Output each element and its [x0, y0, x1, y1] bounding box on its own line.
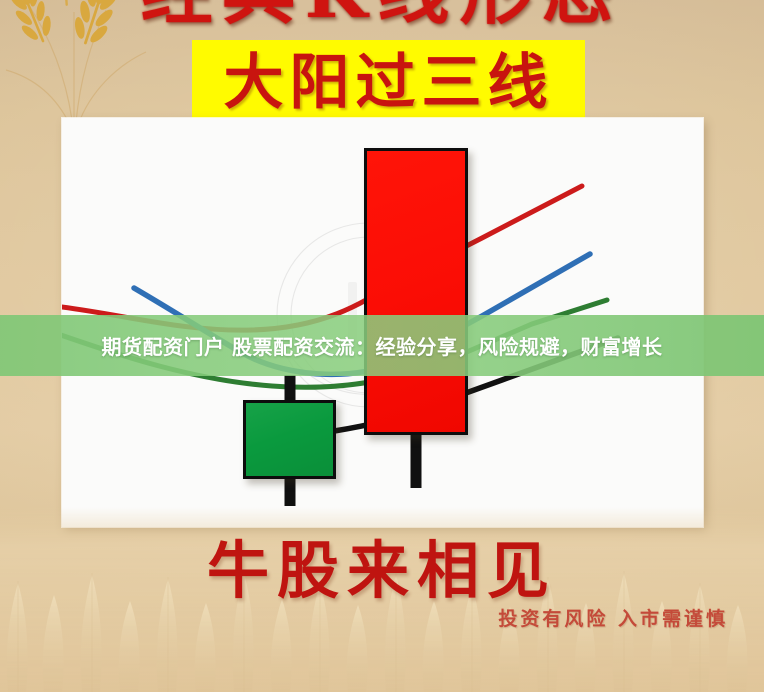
candle-body: [243, 400, 336, 479]
yellow-banner-title: 大阳过三线: [224, 53, 554, 113]
promo-text: 期货配资门户 股票配资交流：经验分享，风险规避，财富增长: [0, 331, 764, 360]
page-headline: 经典K线形态: [0, 0, 764, 28]
candle-body: [364, 148, 468, 435]
ma-line-red: [62, 186, 582, 330]
yellow-title-banner: 大阳过三线: [192, 40, 585, 122]
promo-overlay-band[interactable]: 期货配资门户 股票配资交流：经验分享，风险规避，财富增长: [0, 315, 764, 376]
poster-canvas: 经典K线形态 大阳过三线: [0, 0, 764, 692]
slogan-disclaimer: 投资有风险 入市需谨慎: [498, 610, 728, 629]
slogan-main: 牛股来相见: [0, 540, 764, 602]
candlestick-green: [243, 375, 336, 506]
